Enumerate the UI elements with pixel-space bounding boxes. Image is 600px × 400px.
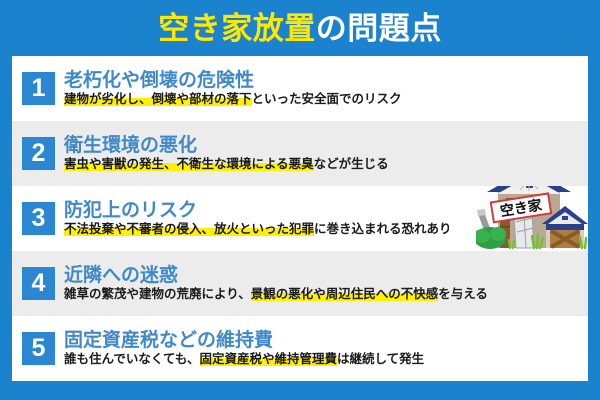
desc-highlight: 固定資産税や維持管理費 xyxy=(200,352,338,366)
desc-lead: 雑草の繁茂や建物の荒廃により、 xyxy=(64,287,251,301)
problems-list: 1 老朽化や倒壊の危険性 建物が劣化し、倒壊や部材の落下といった安全面でのリスク… xyxy=(12,56,588,381)
desc-highlight: 建物が劣化し、倒壊や部材の落下 xyxy=(64,92,252,106)
desc-rest: は継続して発生 xyxy=(337,352,424,366)
item-texts: 衛生環境の悪化 害虫や害獣の発生、不衛生な環境による悪臭などが生じる xyxy=(64,135,580,173)
list-item[interactable]: 4 近隣への迷惑 雑草の繁茂や建物の荒廃により、景観の悪化や周辺住民への不快感を… xyxy=(12,251,588,316)
desc-rest: を与える xyxy=(438,287,488,301)
list-item[interactable]: 5 固定資産税などの維持費 誰も住んでいなくても、固定資産税や維持管理費は継続し… xyxy=(12,316,588,381)
item-heading: 老朽化や倒壊の危険性 xyxy=(64,70,580,91)
item-texts: 防犯上のリスク 不法投棄や不審者の侵入、放火といった犯罪に巻き込まれる恐れあり xyxy=(64,200,580,238)
item-number-badge: 3 xyxy=(22,202,55,235)
item-texts: 近隣への迷惑 雑草の繁茂や建物の荒廃により、景観の悪化や周辺住民への不快感を与え… xyxy=(64,265,580,303)
desc-highlight: 害虫や害獣の発生、不衛生な環境による悪臭 xyxy=(64,157,314,171)
item-description: 誰も住んでいなくても、固定資産税や維持管理費は継続して発生 xyxy=(64,352,580,368)
infographic-poster: 空き家放置の問題点 xyxy=(0,0,600,400)
desc-highlight: 不法投棄や不審者の侵入、放火といった犯罪 xyxy=(64,222,314,236)
page-title-highlight: 空き家放置 xyxy=(158,11,316,46)
desc-rest: に巻き込まれる恐れあり xyxy=(314,222,452,236)
item-description: 害虫や害獣の発生、不衛生な環境による悪臭などが生じる xyxy=(64,157,580,173)
page-title: 空き家放置の問題点 xyxy=(158,13,442,44)
item-description: 不法投棄や不審者の侵入、放火といった犯罪に巻き込まれる恐れあり xyxy=(64,222,580,238)
item-description: 雑草の繁茂や建物の荒廃により、景観の悪化や周辺住民への不快感を与える xyxy=(64,287,580,303)
item-texts: 老朽化や倒壊の危険性 建物が劣化し、倒壊や部材の落下といった安全面でのリスク xyxy=(64,70,580,108)
desc-highlight: 景観の悪化や周辺住民への不快感 xyxy=(251,287,439,301)
item-heading: 防犯上のリスク xyxy=(64,200,580,221)
item-number-badge: 4 xyxy=(22,267,55,300)
item-number-badge: 5 xyxy=(22,332,55,365)
problems-card: 空き家 1 老朽化や倒壊の危険性 建物が劣化し、倒壊や部材の落下といった安全面で… xyxy=(12,56,588,381)
list-item[interactable]: 1 老朽化や倒壊の危険性 建物が劣化し、倒壊や部材の落下といった安全面でのリスク xyxy=(12,56,588,121)
item-description: 建物が劣化し、倒壊や部材の落下といった安全面でのリスク xyxy=(64,92,580,108)
page-title-rest: の問題点 xyxy=(316,11,442,46)
item-heading: 近隣への迷惑 xyxy=(64,265,580,286)
item-number-badge: 2 xyxy=(22,137,55,170)
desc-rest: などが生じる xyxy=(314,157,389,171)
poster-title-bar: 空き家放置の問題点 xyxy=(0,0,600,56)
desc-lead: 誰も住んでいなくても、 xyxy=(64,352,200,366)
item-heading: 衛生環境の悪化 xyxy=(64,135,580,156)
item-heading: 固定資産税などの維持費 xyxy=(64,330,580,351)
list-item[interactable]: 3 防犯上のリスク 不法投棄や不審者の侵入、放火といった犯罪に巻き込まれる恐れあ… xyxy=(12,186,588,251)
desc-rest: といった安全面でのリスク xyxy=(252,92,402,106)
item-texts: 固定資産税などの維持費 誰も住んでいなくても、固定資産税や維持管理費は継続して発… xyxy=(64,330,580,368)
item-number-badge: 1 xyxy=(22,72,55,105)
list-item[interactable]: 2 衛生環境の悪化 害虫や害獣の発生、不衛生な環境による悪臭などが生じる xyxy=(12,121,588,186)
